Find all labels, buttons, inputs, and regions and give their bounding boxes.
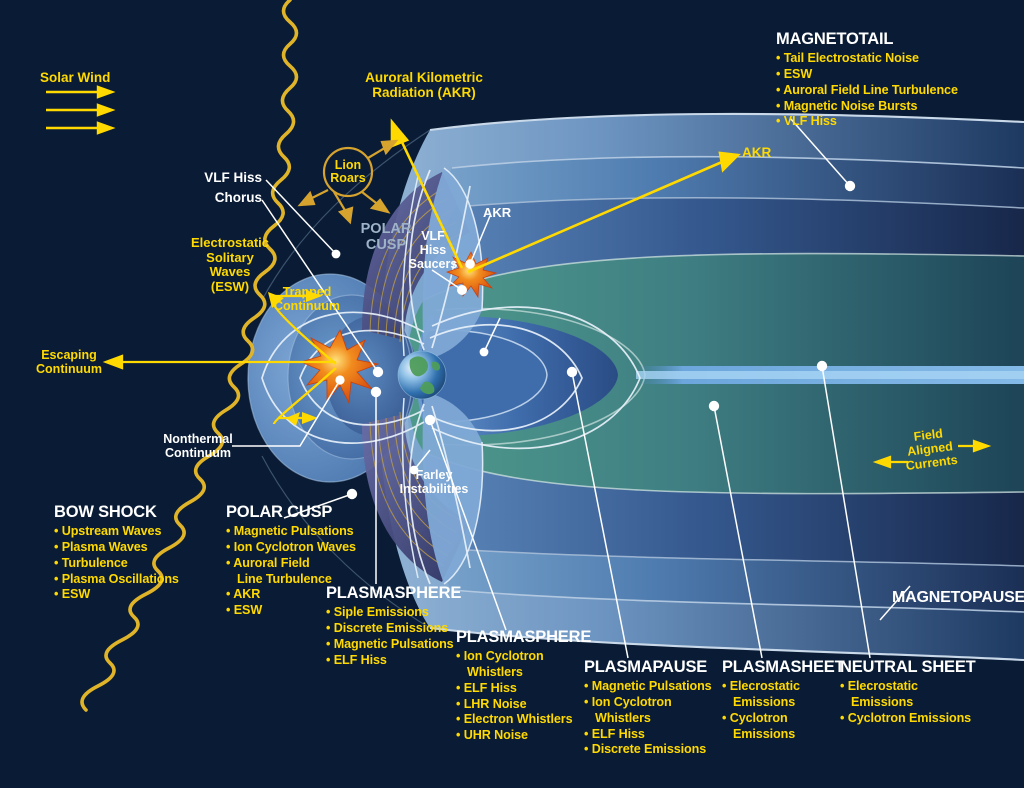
- list-item-continuation: Emissions: [722, 695, 844, 711]
- list-item: • Plasma Oscillations: [54, 572, 179, 588]
- label-solar-wind: Solar Wind: [40, 70, 110, 85]
- callout-items: • Siple Emissions • Discrete Emissions •…: [326, 605, 461, 668]
- label-magnetopause: MAGNETOPAUSE: [892, 589, 1024, 607]
- list-item: • Discrete Emissions: [326, 621, 461, 637]
- callout-heading: MAGNETOTAIL: [776, 30, 958, 49]
- list-item: • Magnetic Pulsations: [226, 524, 356, 540]
- label-akr-yellow: AKR: [742, 145, 771, 160]
- label-vlf-hiss-saucers: VLF Hiss Saucers: [402, 230, 464, 271]
- callout-heading: BOW SHOCK: [54, 503, 179, 522]
- list-item: • LHR Noise: [456, 697, 591, 713]
- list-item: • Magnetic Noise Bursts: [776, 99, 958, 115]
- list-item: • Ion Cyclotron Waves: [226, 540, 356, 556]
- label-lion-roars: Lion Roars: [324, 159, 372, 185]
- callout-items: • Tail Electrostatic Noise • ESW • Auror…: [776, 51, 958, 130]
- list-item-continuation: Emissions: [840, 695, 976, 711]
- list-item: • Ion Cyclotron: [584, 695, 712, 711]
- callout-plasmapause: PLASMAPAUSE • Magnetic Pulsations • Ion …: [584, 658, 712, 758]
- list-item: • Elecrostatic: [722, 679, 844, 695]
- list-item: • Cyclotron: [722, 711, 844, 727]
- callout-bow-shock: BOW SHOCK • Upstream Waves • Plasma Wave…: [54, 503, 179, 603]
- callout-items: • Magnetic Pulsations • Ion Cyclotron Wh…: [584, 679, 712, 758]
- list-item: • ELF Hiss: [456, 681, 591, 697]
- callout-plasmasheet: PLASMASHEET • Elecrostatic Emissions • C…: [722, 658, 844, 742]
- list-item: • ELF Hiss: [326, 653, 461, 669]
- list-item: • Siple Emissions: [326, 605, 461, 621]
- callout-heading: POLAR CUSP: [226, 503, 356, 522]
- label-trapped-continuum: Trapped Continuum: [262, 285, 352, 313]
- list-item: • ESW: [54, 587, 179, 603]
- list-item-continuation: Whistlers: [584, 711, 712, 727]
- callout-neutral-sheet: NEUTRAL SHEET • Elecrostatic Emissions •…: [840, 658, 976, 727]
- list-item-continuation: Emissions: [722, 727, 844, 743]
- list-item: • Upstream Waves: [54, 524, 179, 540]
- callout-heading: NEUTRAL SHEET: [840, 658, 976, 677]
- callout-items: • Ion Cyclotron Whistlers • ELF Hiss • L…: [456, 649, 591, 744]
- list-item-continuation: Whistlers: [456, 665, 591, 681]
- list-item: • Ion Cyclotron: [456, 649, 591, 665]
- list-item: • Discrete Emissions: [584, 742, 712, 758]
- callout-plasmasphere-left: PLASMASPHERE • Siple Emissions • Discret…: [326, 584, 461, 668]
- list-item: • Electron Whistlers: [456, 712, 591, 728]
- magnetosphere-diagram: MAGNETOTAIL • Tail Electrostatic Noise •…: [0, 0, 1024, 788]
- label-auroral-kilometric-radiation: Auroral Kilometric Radiation (AKR): [334, 70, 514, 100]
- list-item: • Elecrostatic: [840, 679, 976, 695]
- list-item: • Auroral Field Line Turbulence: [776, 83, 958, 99]
- list-item: • ESW: [776, 67, 958, 83]
- list-item: • Magnetic Pulsations: [584, 679, 712, 695]
- label-akr-white: AKR: [483, 206, 511, 221]
- callout-magnetotail: MAGNETOTAIL • Tail Electrostatic Noise •…: [776, 30, 958, 130]
- list-item: • ELF Hiss: [584, 727, 712, 743]
- callout-heading: PLASMASPHERE: [456, 628, 591, 647]
- label-farley-instabilities: Farley Instabilities: [388, 468, 480, 497]
- list-item: • Auroral Field: [226, 556, 356, 572]
- callout-items: • Elecrostatic Emissions • Cyclotron Emi…: [840, 679, 976, 727]
- list-item: • Tail Electrostatic Noise: [776, 51, 958, 67]
- label-vlf-hiss: VLF Hiss: [176, 170, 262, 185]
- list-item: • VLF Hiss: [776, 114, 958, 130]
- callout-heading: PLASMAPAUSE: [584, 658, 712, 677]
- callout-plasmasphere-right: PLASMASPHERE • Ion Cyclotron Whistlers •…: [456, 628, 591, 744]
- label-field-aligned-currents: Field Aligned Currents: [894, 424, 967, 474]
- list-item: • Magnetic Pulsations: [326, 637, 461, 653]
- label-escaping-continuum: Escaping Continuum: [28, 348, 110, 377]
- callout-items: • Upstream Waves • Plasma Waves • Turbul…: [54, 524, 179, 603]
- list-item: • UHR Noise: [456, 728, 591, 744]
- callout-heading: PLASMASHEET: [722, 658, 844, 677]
- callout-items: • Elecrostatic Emissions • Cyclotron Emi…: [722, 679, 844, 742]
- callout-heading: PLASMASPHERE: [326, 584, 461, 603]
- list-item: • Cyclotron Emissions: [840, 711, 976, 727]
- label-chorus: Chorus: [176, 190, 262, 205]
- list-item: • Turbulence: [54, 556, 179, 572]
- list-item: • Plasma Waves: [54, 540, 179, 556]
- label-nonthermal-continuum: Nonthermal Continuum: [152, 432, 244, 461]
